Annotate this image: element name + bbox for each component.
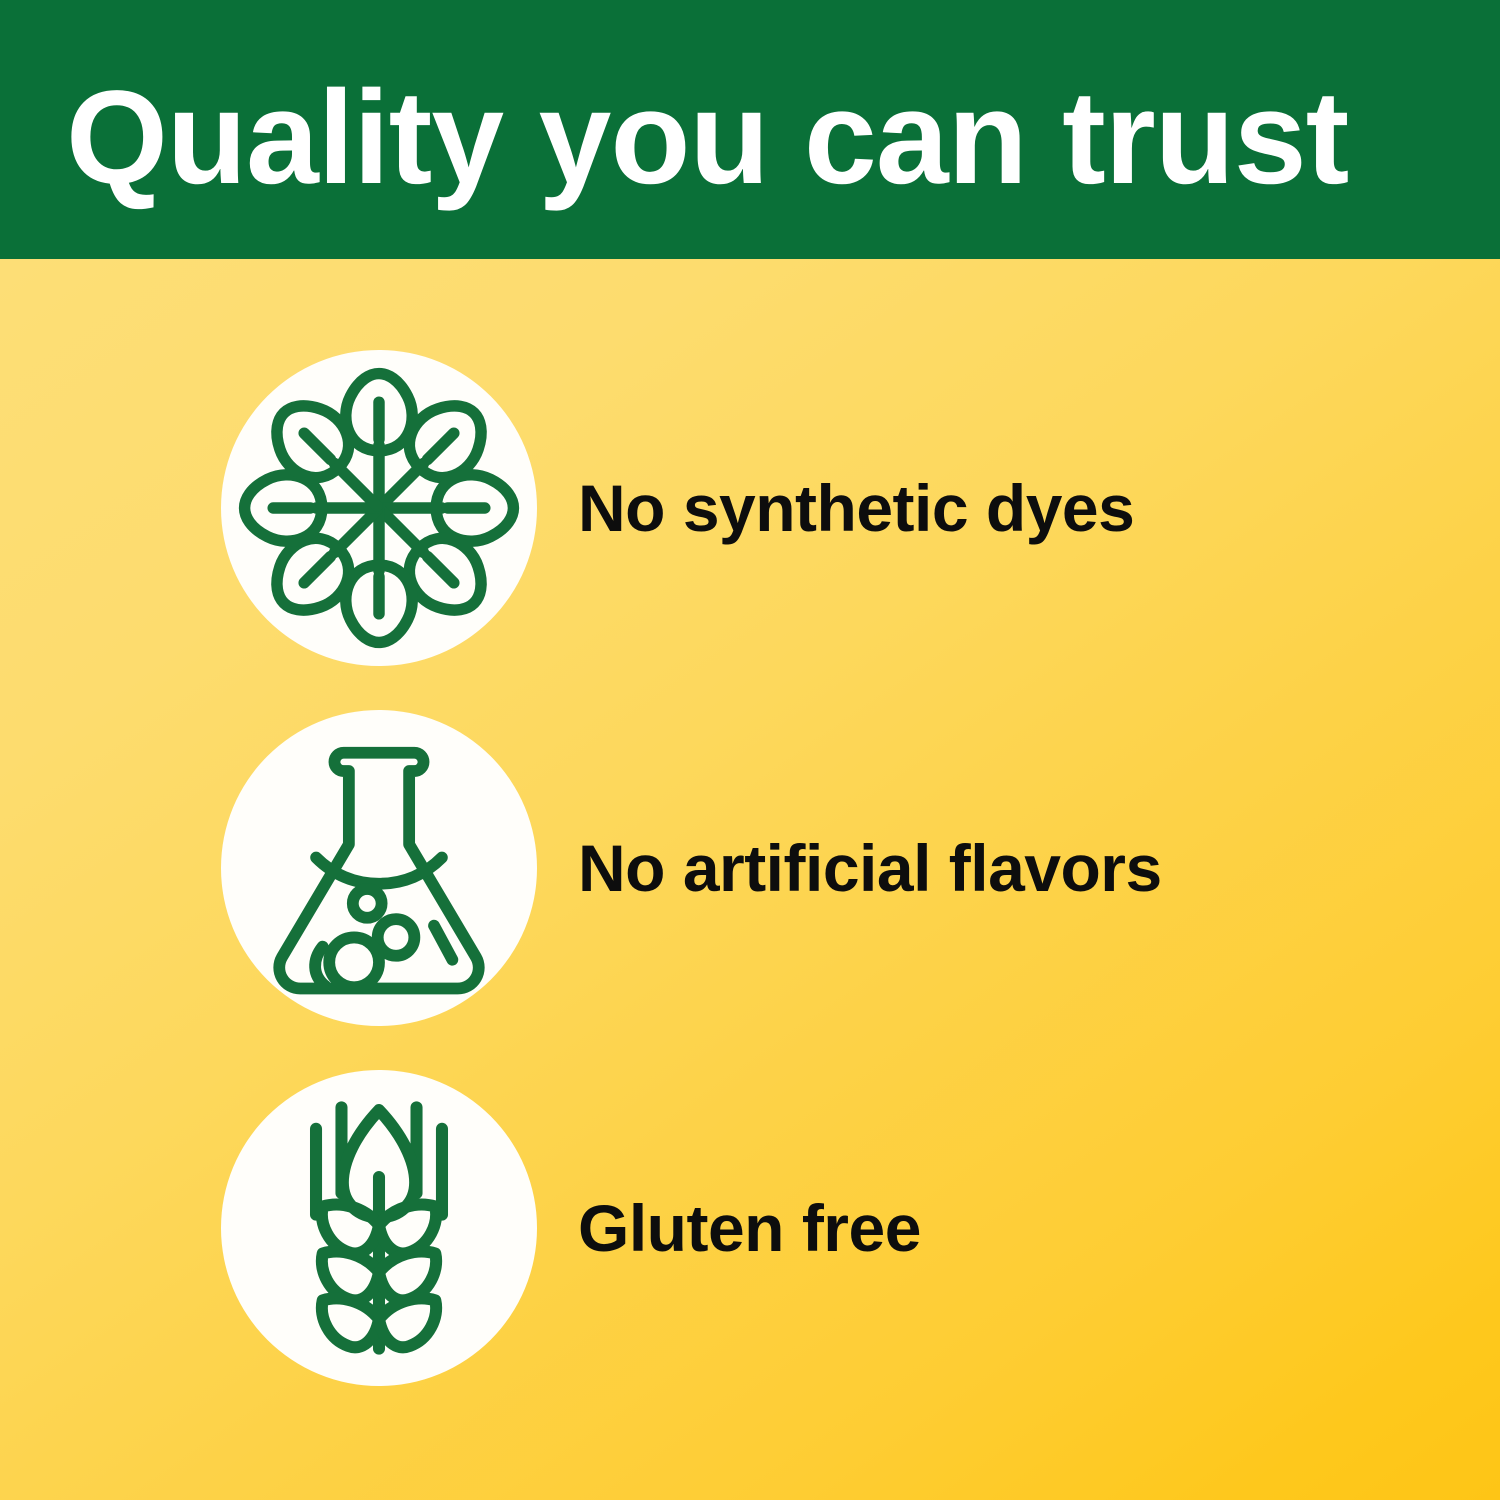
- icon-badge-gluten-free: [221, 1070, 537, 1386]
- flower-petals-icon: [236, 365, 522, 651]
- feature-row: No artificial flavors: [0, 710, 1500, 1026]
- icon-badge-no-synthetic-dyes: [221, 350, 537, 666]
- feature-row: No synthetic dyes: [0, 350, 1500, 666]
- product-quality-infographic: Quality you can trust: [0, 0, 1500, 1500]
- feature-label-gluten-free: Gluten free: [578, 1192, 921, 1264]
- features-panel: No synthetic dyes No ar: [0, 259, 1500, 1500]
- wheat-stalk-icon: [257, 1094, 501, 1362]
- page-title: Quality you can trust: [66, 72, 1435, 205]
- icon-badge-no-artificial-flavors: [221, 710, 537, 1026]
- header-banner: Quality you can trust: [0, 0, 1500, 259]
- erlenmeyer-flask-icon: [254, 737, 504, 999]
- feature-row: Gluten free: [0, 1070, 1500, 1386]
- feature-label-no-synthetic-dyes: No synthetic dyes: [578, 472, 1134, 544]
- feature-label-no-artificial-flavors: No artificial flavors: [578, 832, 1162, 904]
